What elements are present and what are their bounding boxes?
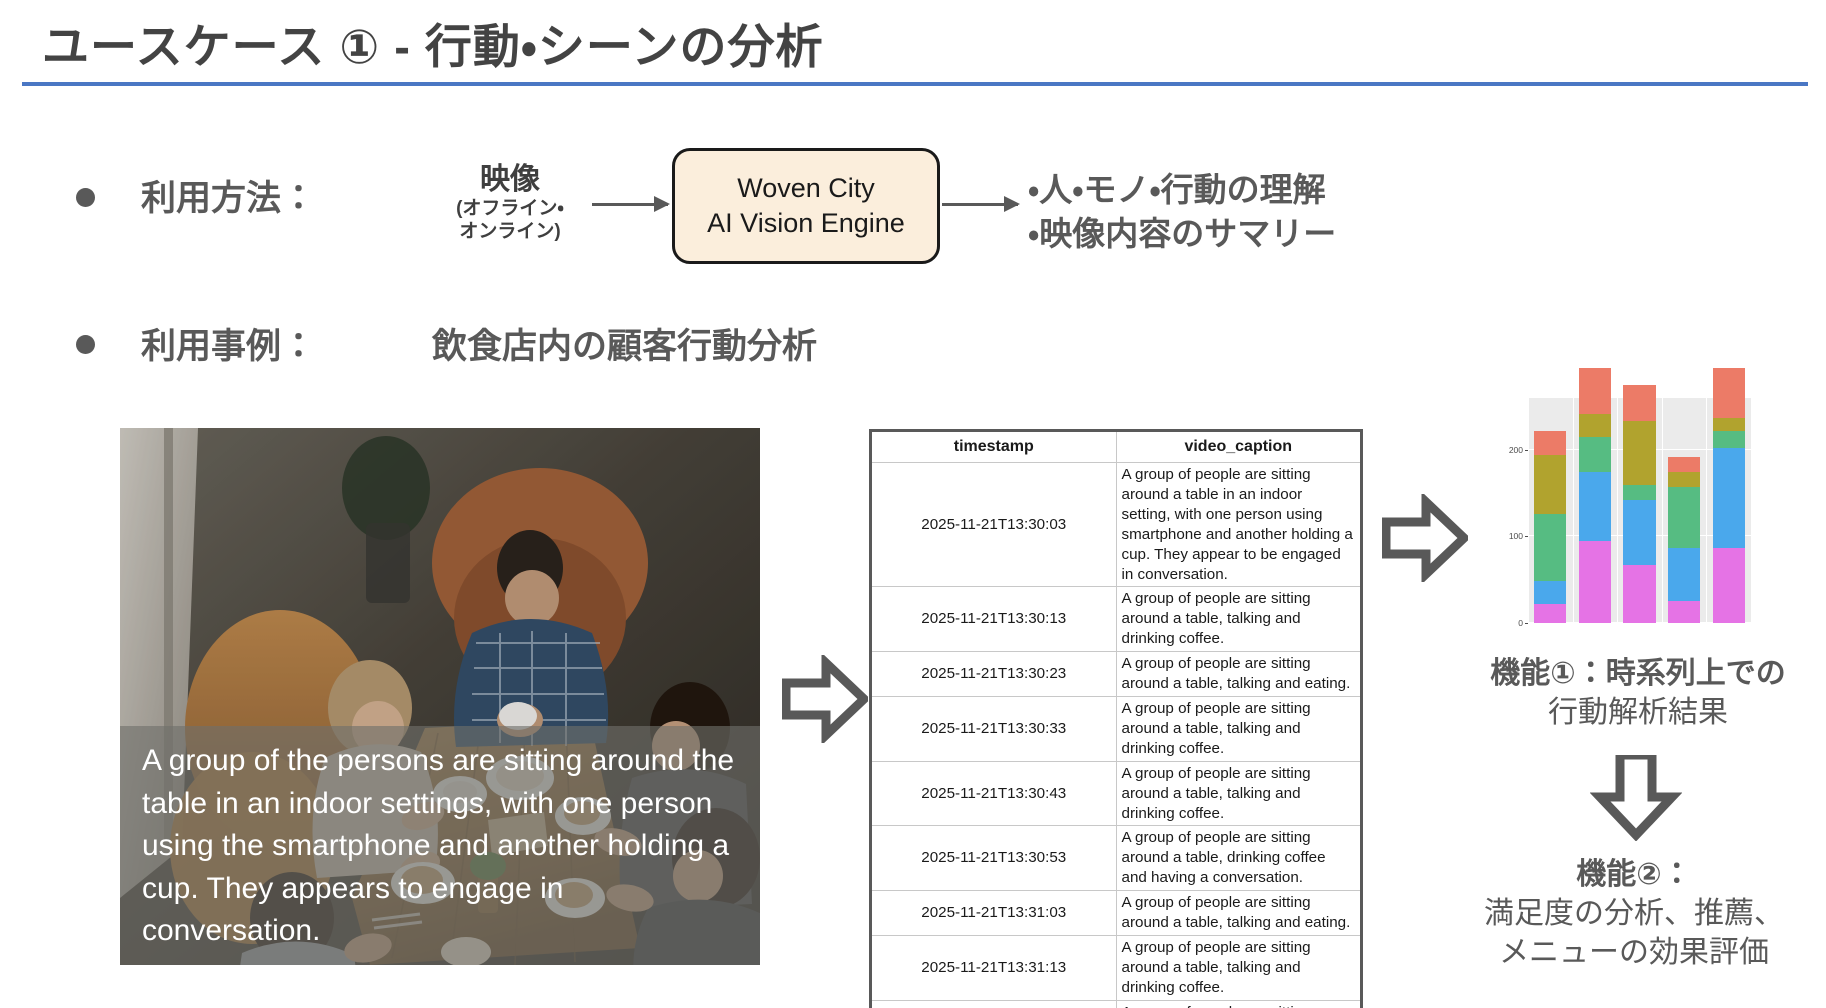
chart-bar (1534, 431, 1566, 623)
video-caption-table: timestamp video_caption 2025-11-21T13:30… (872, 432, 1360, 1008)
table-row: 2025-11-21T13:30:03 A group of people ar… (872, 463, 1360, 587)
right-block-arrow-icon (1382, 494, 1468, 582)
table-row: 2025-11-21T13:30:43 A group of people ar… (872, 761, 1360, 826)
chart-y-tick-label: 0 (1497, 618, 1523, 628)
video-caption-table-container: timestamp video_caption 2025-11-21T13:30… (869, 429, 1363, 1008)
flow-outcome-line2: ・映像内容のサマリー (1028, 212, 1336, 256)
chart-gridline-vertical (1662, 398, 1663, 623)
cell-timestamp: 2025-11-21T13:30:13 (872, 587, 1116, 652)
flow-arrow-engine-to-outcome (942, 203, 1018, 206)
cell-timestamp: 2025-11-21T13:30:23 (872, 652, 1116, 697)
flow-input-title: 映像 (430, 163, 590, 197)
chart-y-tick-label: 100 (1497, 531, 1523, 541)
chart-bar (1713, 368, 1745, 623)
engine-box-line1: Woven City (737, 171, 875, 206)
bullet-label-use-case: 利用事例： (141, 318, 316, 369)
flow-outcomes: ・人・モノ・行動の理解 ・映像内容のサマリー (1028, 168, 1336, 255)
chart-bar-segment-olive (1713, 418, 1745, 431)
cell-timestamp: 2025-11-21T13:31:03 (872, 891, 1116, 936)
engine-box-woven-city: Woven City AI Vision Engine (672, 148, 940, 264)
cell-video-caption: A group of people are sitting around a t… (1116, 891, 1360, 936)
table-row: 2025-11-21T13:30:13 A group of people ar… (872, 587, 1360, 652)
chart-bar-segment-olive (1623, 421, 1655, 486)
table-header-row: timestamp video_caption (872, 432, 1360, 463)
cell-timestamp: 2025-11-21T13:30:53 (872, 826, 1116, 891)
chart-bar-segment-salmon (1579, 368, 1611, 414)
cell-video-caption: A group of people are sitting around a t… (1116, 652, 1360, 697)
cell-timestamp: 2025-11-21T13:30:43 (872, 761, 1116, 826)
flow-input-subtitle-line2: オンライン) (430, 220, 590, 243)
function-2-caption: 機能②： 満足度の分析、推薦、 メニューの効果評価 (1442, 855, 1826, 972)
cell-video-caption: A group of people are sitting around a t… (1116, 935, 1360, 1000)
cell-timestamp: 2025-11-21T13:30:03 (872, 463, 1116, 587)
function-2-body-line2: メニューの効果評価 (1442, 933, 1826, 972)
bullet-marker-2 (76, 335, 95, 354)
flow-input-subtitle-line1: (オフライン・ (430, 197, 590, 220)
use-case-value: 飲食店内の顧客行動分析 (432, 318, 817, 369)
engine-box-line2: AI Vision Engine (707, 206, 905, 241)
down-block-arrow-icon (1590, 755, 1682, 841)
chart-bar (1623, 385, 1655, 623)
chart-bar-segment-blue (1579, 472, 1611, 541)
chart-bar-segment-green (1579, 437, 1611, 472)
cell-timestamp: 2025-11-21T13:31:23 (872, 1000, 1116, 1008)
chart-bar-segment-blue (1534, 581, 1566, 604)
chart-bar-segment-green (1668, 487, 1700, 548)
table-row: 2025-11-21T13:31:03 A group of people ar… (872, 891, 1360, 936)
flow-outcome-line1: ・人・モノ・行動の理解 (1028, 168, 1336, 212)
chart-bar (1579, 368, 1611, 623)
chart-bar-segment-olive (1579, 414, 1611, 437)
chart-bar-segment-salmon (1668, 457, 1700, 472)
chart-bar-segment-green (1713, 431, 1745, 448)
chart-bar-segment-olive (1668, 472, 1700, 488)
table-row: 2025-11-21T13:30:23 A group of people ar… (872, 652, 1360, 697)
cell-timestamp: 2025-11-21T13:31:13 (872, 935, 1116, 1000)
bullet-marker-1 (76, 188, 95, 207)
block-arrow-photo-to-table (782, 655, 868, 748)
flow-input-video: 映像 (オフライン・ オンライン) (430, 163, 590, 243)
chart-bar (1668, 457, 1700, 623)
function-2-body-line1: 満足度の分析、推薦、 (1442, 894, 1826, 933)
chart-bar-segment-green (1623, 485, 1655, 500)
chart-bar-segment-green (1534, 514, 1566, 582)
table-header-video-caption: video_caption (1116, 432, 1360, 463)
block-arrow-table-to-chart (1382, 494, 1468, 587)
chart-gridline-vertical (1617, 398, 1618, 623)
chart-bar-segment-magenta (1623, 565, 1655, 623)
table-row: 2025-11-21T13:30:53 A group of people ar… (872, 826, 1360, 891)
chart-y-tick-label: 200 (1497, 445, 1523, 455)
chart-bar-segment-magenta (1534, 604, 1566, 623)
chart-bar-segment-blue (1668, 548, 1700, 602)
function-1-caption: 機能①：時系列上での 行動解析結果 (1452, 654, 1824, 732)
chart-plot-area (1528, 398, 1751, 623)
cell-timestamp: 2025-11-21T13:30:33 (872, 696, 1116, 761)
table-row: 2025-11-21T13:30:33 A group of people ar… (872, 696, 1360, 761)
title-underline-rule (22, 82, 1808, 86)
slide-canvas: ユースケース ① - 行動・シーンの分析 利用方法： 映像 (オフライン・ オン… (0, 0, 1826, 1008)
chart-bar-segment-blue (1713, 448, 1745, 548)
chart-bar-segment-magenta (1713, 548, 1745, 623)
chart-bar-segment-salmon (1623, 385, 1655, 420)
function-1-body: 行動解析結果 (1452, 693, 1824, 732)
function-1-title: 機能①：時系列上での (1452, 654, 1824, 693)
table-header-timestamp: timestamp (872, 432, 1116, 463)
flow-arrow-input-to-engine (592, 203, 668, 206)
chart-gridline-vertical (1706, 398, 1707, 623)
block-arrow-function1-to-function2 (1590, 755, 1682, 846)
chart-bar-segment-olive (1534, 455, 1566, 514)
stacked-bar-chart: 0100200 (1497, 398, 1751, 641)
page-title: ユースケース ① - 行動・シーンの分析 (42, 8, 824, 77)
table-body: 2025-11-21T13:30:03 A group of people ar… (872, 463, 1360, 1008)
chart-bar-segment-magenta (1668, 601, 1700, 623)
chart-bar-segment-magenta (1579, 541, 1611, 623)
cell-video-caption: A group of people are sitting around a t… (1116, 761, 1360, 826)
chart-bar-segment-salmon (1713, 368, 1745, 418)
table-row: 2025-11-21T13:31:13 A group of people ar… (872, 935, 1360, 1000)
photo-caption-overlay: A group of the persons are sitting aroun… (120, 726, 760, 965)
cell-video-caption: A group of people are sitting around a t… (1116, 587, 1360, 652)
chart-bar-segment-blue (1623, 500, 1655, 565)
cell-video-caption: A group of people are sitting around a t… (1116, 1000, 1360, 1008)
function-2-title: 機能②： (1442, 855, 1826, 894)
cell-video-caption: A group of people are sitting around a t… (1116, 696, 1360, 761)
bullet-label-usage-method: 利用方法： (141, 170, 316, 221)
cafe-scene-photo: A group of the persons are sitting aroun… (120, 428, 760, 965)
cell-video-caption: A group of people are sitting around a t… (1116, 826, 1360, 891)
table-row: 2025-11-21T13:31:23 A group of people ar… (872, 1000, 1360, 1008)
chart-gridline-vertical (1573, 398, 1574, 623)
chart-gridline-vertical (1528, 398, 1529, 623)
chart-gridline-vertical (1751, 398, 1752, 623)
chart-bar-segment-salmon (1534, 431, 1566, 455)
cell-video-caption: A group of people are sitting around a t… (1116, 463, 1360, 587)
right-block-arrow-icon (782, 655, 868, 743)
